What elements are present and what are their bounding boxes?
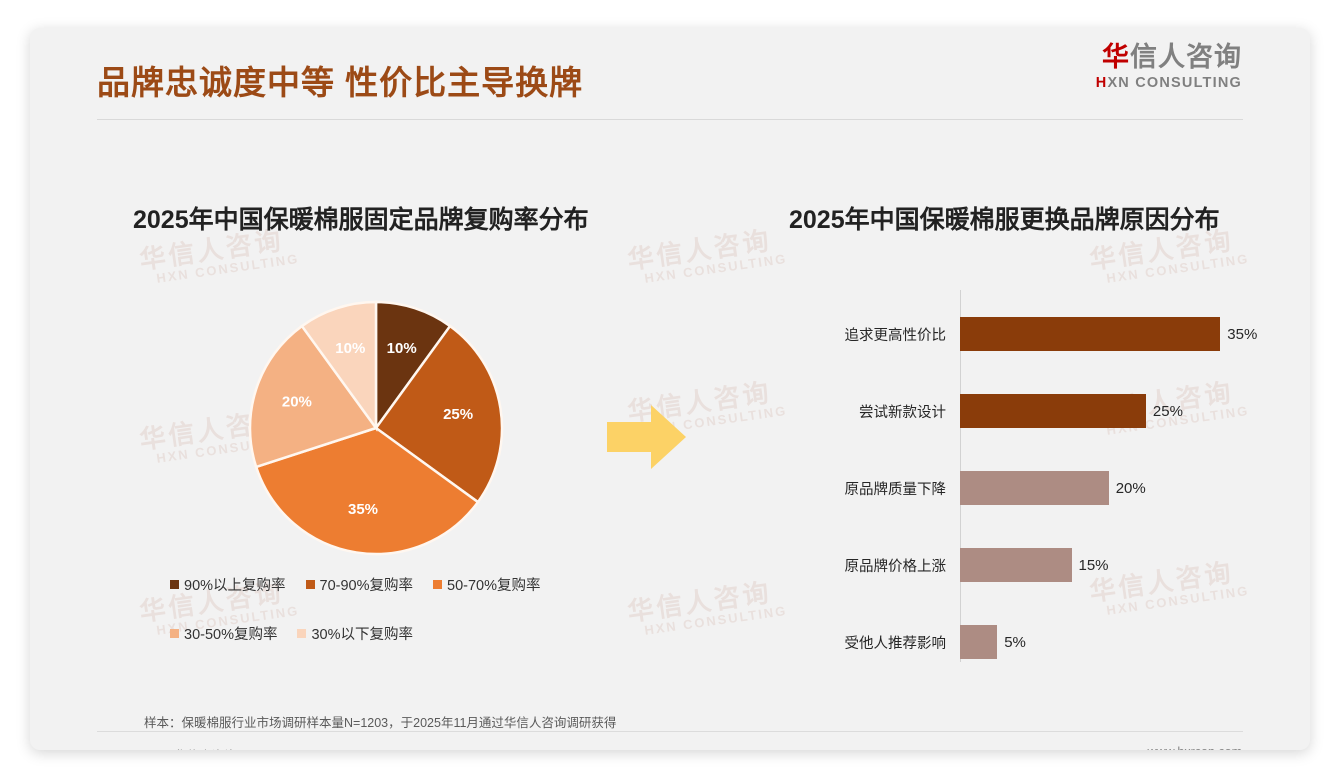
logo-rest-chars: 信人咨询: [1130, 42, 1242, 72]
bar-track: 25%: [960, 394, 1183, 428]
bar-category-label: 受他人推荐影响: [810, 632, 954, 653]
bar-category-label: 追求更高性价比: [810, 324, 954, 345]
bar-category-label: 原品牌质量下降: [810, 478, 954, 499]
legend-swatch-icon: [306, 580, 315, 589]
header-divider: [97, 119, 1243, 120]
company-logo: 华信人咨询 HXN CONSULTING: [1090, 44, 1242, 91]
logo-english-text: HXN CONSULTING: [1090, 76, 1242, 91]
legend-swatch-icon: [433, 580, 442, 589]
legend-item[interactable]: 50-70%复购率: [433, 574, 540, 595]
logo-accent-char: 华: [1102, 42, 1130, 72]
legend-label: 50-70%复购率: [447, 574, 540, 595]
pie-slice-label: 10%: [335, 340, 365, 357]
bar-track: 20%: [960, 471, 1146, 505]
website-url[interactable]: www.hxrcon.com: [1148, 745, 1242, 750]
bar-value-label: 35%: [1227, 326, 1257, 343]
legend-label: 70-90%复购率: [320, 574, 413, 595]
pie-slice-label: 20%: [282, 393, 312, 410]
legend-label: 30-50%复购率: [184, 623, 277, 644]
bar-value-label: 5%: [1004, 634, 1026, 651]
bar-value-label: 25%: [1153, 403, 1183, 420]
legend-swatch-icon: [297, 629, 306, 638]
slide-header: 品牌忠诚度中等 性价比主导换牌 华信人咨询 HXN CONSULTING: [30, 28, 1310, 120]
bar-chart-row: 追求更高性价比35%: [810, 317, 1280, 351]
bar-fill[interactable]: [960, 317, 1220, 351]
bar-category-label: 尝试新款设计: [810, 401, 954, 422]
bar-chart-row: 原品牌价格上涨15%: [810, 548, 1280, 582]
bar-track: 35%: [960, 317, 1257, 351]
legend-row-top: 90%以上复购率70-90%复购率50-70%复购率: [170, 569, 590, 599]
pie-chart: 10%25%35%20%10%: [248, 300, 504, 556]
bar-track: 5%: [960, 625, 1026, 659]
bar-track: 15%: [960, 548, 1109, 582]
source-footnote: 样本：保暖棉服行业市场调研样本量N=1203，于2025年11月通过华信人咨询调…: [144, 712, 616, 731]
bar-chart: 追求更高性价比35%尝试新款设计25%原品牌质量下降20%原品牌价格上涨15%受…: [810, 290, 1280, 662]
pie-chart-title: 2025年中国保暖棉服固定品牌复购率分布: [133, 200, 589, 236]
bar-chart-row: 受他人推荐影响5%: [810, 625, 1280, 659]
page-title: 品牌忠诚度中等 性价比主导换牌: [97, 56, 583, 104]
legend-swatch-icon: [170, 629, 179, 638]
pie-slice-label: 10%: [387, 340, 417, 357]
bar-chart-row: 原品牌质量下降20%: [810, 471, 1280, 505]
bar-chart-row: 尝试新款设计25%: [810, 394, 1280, 428]
logo-en-rest: XN CONSULTING: [1107, 75, 1242, 91]
legend-label: 90%以上复购率: [184, 574, 286, 595]
bar-category-label: 原品牌价格上涨: [810, 555, 954, 576]
bar-fill[interactable]: [960, 471, 1109, 505]
pie-slice-label: 25%: [443, 406, 473, 423]
legend-item[interactable]: 30-50%复购率: [170, 623, 277, 644]
logo-en-accent: H: [1096, 75, 1108, 91]
slide-canvas: 华信人咨询HXN CONSULTING 华信人咨询HXN CONSULTING …: [30, 28, 1310, 750]
legend-label: 30%以下复购率: [311, 623, 413, 644]
bar-fill[interactable]: [960, 548, 1072, 582]
pie-slice-label: 35%: [348, 501, 378, 518]
right-arrow-icon: [607, 402, 687, 472]
legend-item[interactable]: 30%以下复购率: [297, 623, 413, 644]
legend-item[interactable]: 90%以上复购率: [170, 574, 286, 595]
copyright-text: ©2026.1 HXR华信人咨询: [97, 745, 237, 750]
legend-row-bottom: 30-50%复购率30%以下复购率: [170, 618, 590, 648]
bar-value-label: 15%: [1079, 557, 1109, 574]
bar-value-label: 20%: [1116, 480, 1146, 497]
footer-divider: [97, 731, 1243, 732]
legend-swatch-icon: [170, 580, 179, 589]
pie-chart-legend: 90%以上复购率70-90%复购率50-70%复购率 30-50%复购率30%以…: [170, 569, 590, 648]
bar-chart-title: 2025年中国保暖棉服更换品牌原因分布: [789, 200, 1220, 236]
bar-fill[interactable]: [960, 394, 1146, 428]
logo-chinese-text: 华信人咨询: [1090, 44, 1242, 71]
bar-fill[interactable]: [960, 625, 997, 659]
legend-item[interactable]: 70-90%复购率: [306, 574, 413, 595]
pie-chart-svg: 10%25%35%20%10%: [248, 300, 504, 556]
